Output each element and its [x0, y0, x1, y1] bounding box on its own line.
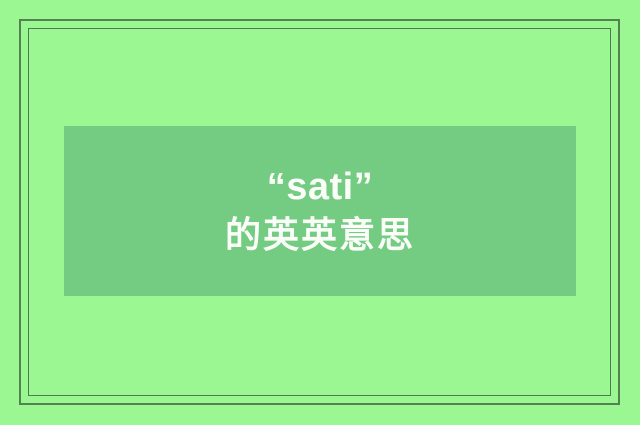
image-canvas: “sati” 的英英意思: [0, 0, 640, 425]
title-line-latin: “sati”: [267, 167, 373, 208]
title-line-cjk: 的英英意思: [225, 216, 415, 255]
title-card-panel: “sati” 的英英意思: [64, 126, 576, 296]
